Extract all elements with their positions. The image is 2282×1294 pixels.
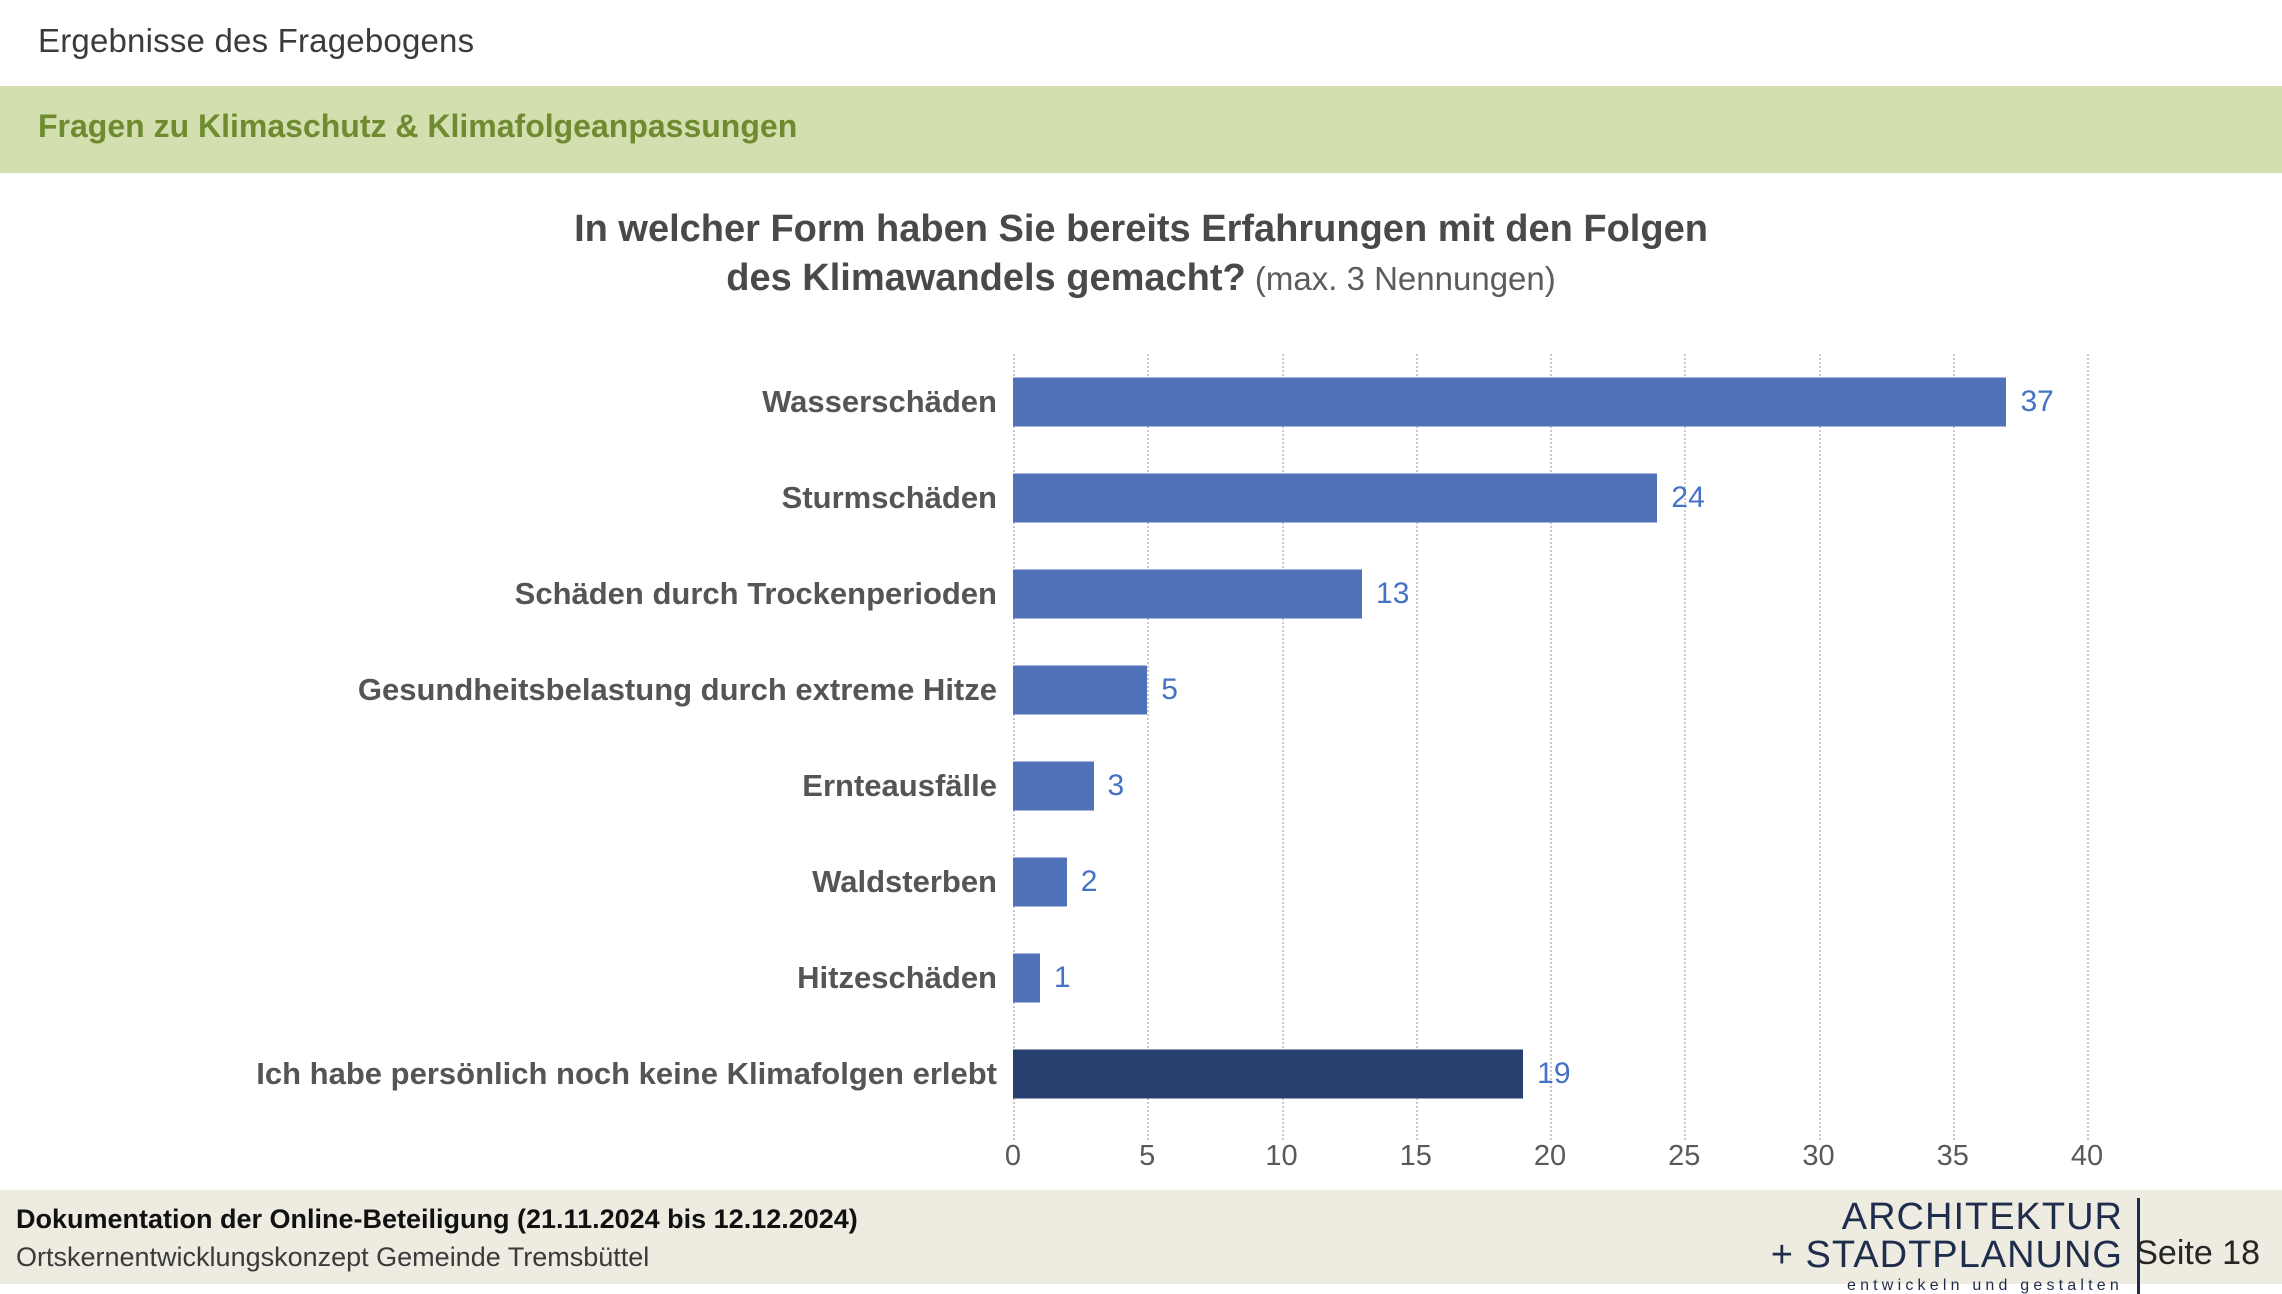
category-label: Sturmschäden: [782, 480, 997, 516]
bar: [1013, 762, 1094, 811]
x-axis-tick: 20: [1534, 1140, 1566, 1173]
bar-row: Schäden durch Trockenperioden13: [1013, 546, 2087, 642]
category-label: Hitzeschäden: [797, 960, 997, 996]
x-axis-tick: 30: [1802, 1140, 1834, 1173]
value-label: 13: [1376, 577, 1409, 611]
bar: [1013, 474, 1657, 523]
bar: [1013, 858, 1067, 907]
chart-title-line1: In welcher Form haben Sie bereits Erfahr…: [0, 205, 2282, 254]
value-label: 5: [1161, 673, 1178, 707]
value-label: 1: [1054, 961, 1071, 995]
x-axis: 0510152025303540: [1013, 1140, 2087, 1186]
chart-title-line2-strong: des Klimawandels gemacht?: [726, 257, 1246, 299]
bar-row: Hitzeschäden1: [1013, 930, 2087, 1026]
chart-title-line2-note: (max. 3 Nennungen): [1246, 260, 1556, 297]
footer-subtitle: Ortskernentwicklungskonzept Gemeinde Tre…: [16, 1242, 649, 1273]
plot-area: Wasserschäden37Sturmschäden24Schäden dur…: [1013, 354, 2087, 1140]
chart-title-line2: des Klimawandels gemacht? (max. 3 Nennun…: [0, 254, 2282, 303]
bar-chart: Wasserschäden37Sturmschäden24Schäden dur…: [0, 340, 2282, 1140]
category-label: Waldsterben: [812, 864, 997, 900]
category-label: Wasserschäden: [762, 384, 997, 420]
x-axis-tick: 5: [1139, 1140, 1155, 1173]
category-label: Ich habe persönlich noch keine Klimafolg…: [256, 1056, 997, 1092]
company-logo: ARCHITEKTUR + STADTPLANUNG entwickeln un…: [1771, 1198, 2140, 1294]
x-axis-tick: 0: [1005, 1140, 1021, 1173]
value-label: 2: [1081, 865, 1098, 899]
value-label: 19: [1537, 1057, 1570, 1091]
bar: [1013, 1050, 1523, 1099]
footer-title: Dokumentation der Online-Beteiligung (21…: [16, 1204, 858, 1235]
bar: [1013, 666, 1147, 715]
x-axis-tick: 25: [1668, 1140, 1700, 1173]
value-label: 3: [1108, 769, 1125, 803]
value-label: 37: [2020, 385, 2053, 419]
category-label: Ernteausfälle: [802, 768, 997, 804]
x-axis-tick: 10: [1265, 1140, 1297, 1173]
section-band-title: Fragen zu Klimaschutz & Klimafolgeanpass…: [38, 108, 797, 145]
chart-title: In welcher Form haben Sie bereits Erfahr…: [0, 205, 2282, 304]
page-number: Seite 18: [2135, 1234, 2260, 1273]
category-label: Gesundheitsbelastung durch extreme Hitze: [358, 672, 997, 708]
value-label: 24: [1671, 481, 1704, 515]
bar: [1013, 954, 1040, 1003]
bar-row: Ernteausfälle3: [1013, 738, 2087, 834]
section-band: Fragen zu Klimaschutz & Klimafolgeanpass…: [0, 86, 2282, 173]
logo-line-1: ARCHITEKTUR: [1771, 1198, 2123, 1236]
bar-row: Wasserschäden37: [1013, 354, 2087, 450]
slide-kicker: Ergebnisse des Fragebogens: [38, 22, 474, 60]
bar-row: Sturmschäden24: [1013, 450, 2087, 546]
logo-tagline: entwickeln und gestalten: [1771, 1278, 2123, 1294]
bar-row: Gesundheitsbelastung durch extreme Hitze…: [1013, 642, 2087, 738]
logo-line-2: + STADTPLANUNG: [1771, 1236, 2123, 1274]
gridline: [2087, 354, 2089, 1140]
x-axis-tick: 40: [2071, 1140, 2103, 1173]
x-axis-tick: 15: [1400, 1140, 1432, 1173]
category-label: Schäden durch Trockenperioden: [515, 576, 997, 612]
x-axis-tick: 35: [1937, 1140, 1969, 1173]
bar: [1013, 378, 2006, 427]
bar-row: Waldsterben2: [1013, 834, 2087, 930]
footer: Dokumentation der Online-Beteiligung (21…: [0, 1190, 2282, 1284]
bar-row: Ich habe persönlich noch keine Klimafolg…: [1013, 1026, 2087, 1122]
bar: [1013, 570, 1362, 619]
